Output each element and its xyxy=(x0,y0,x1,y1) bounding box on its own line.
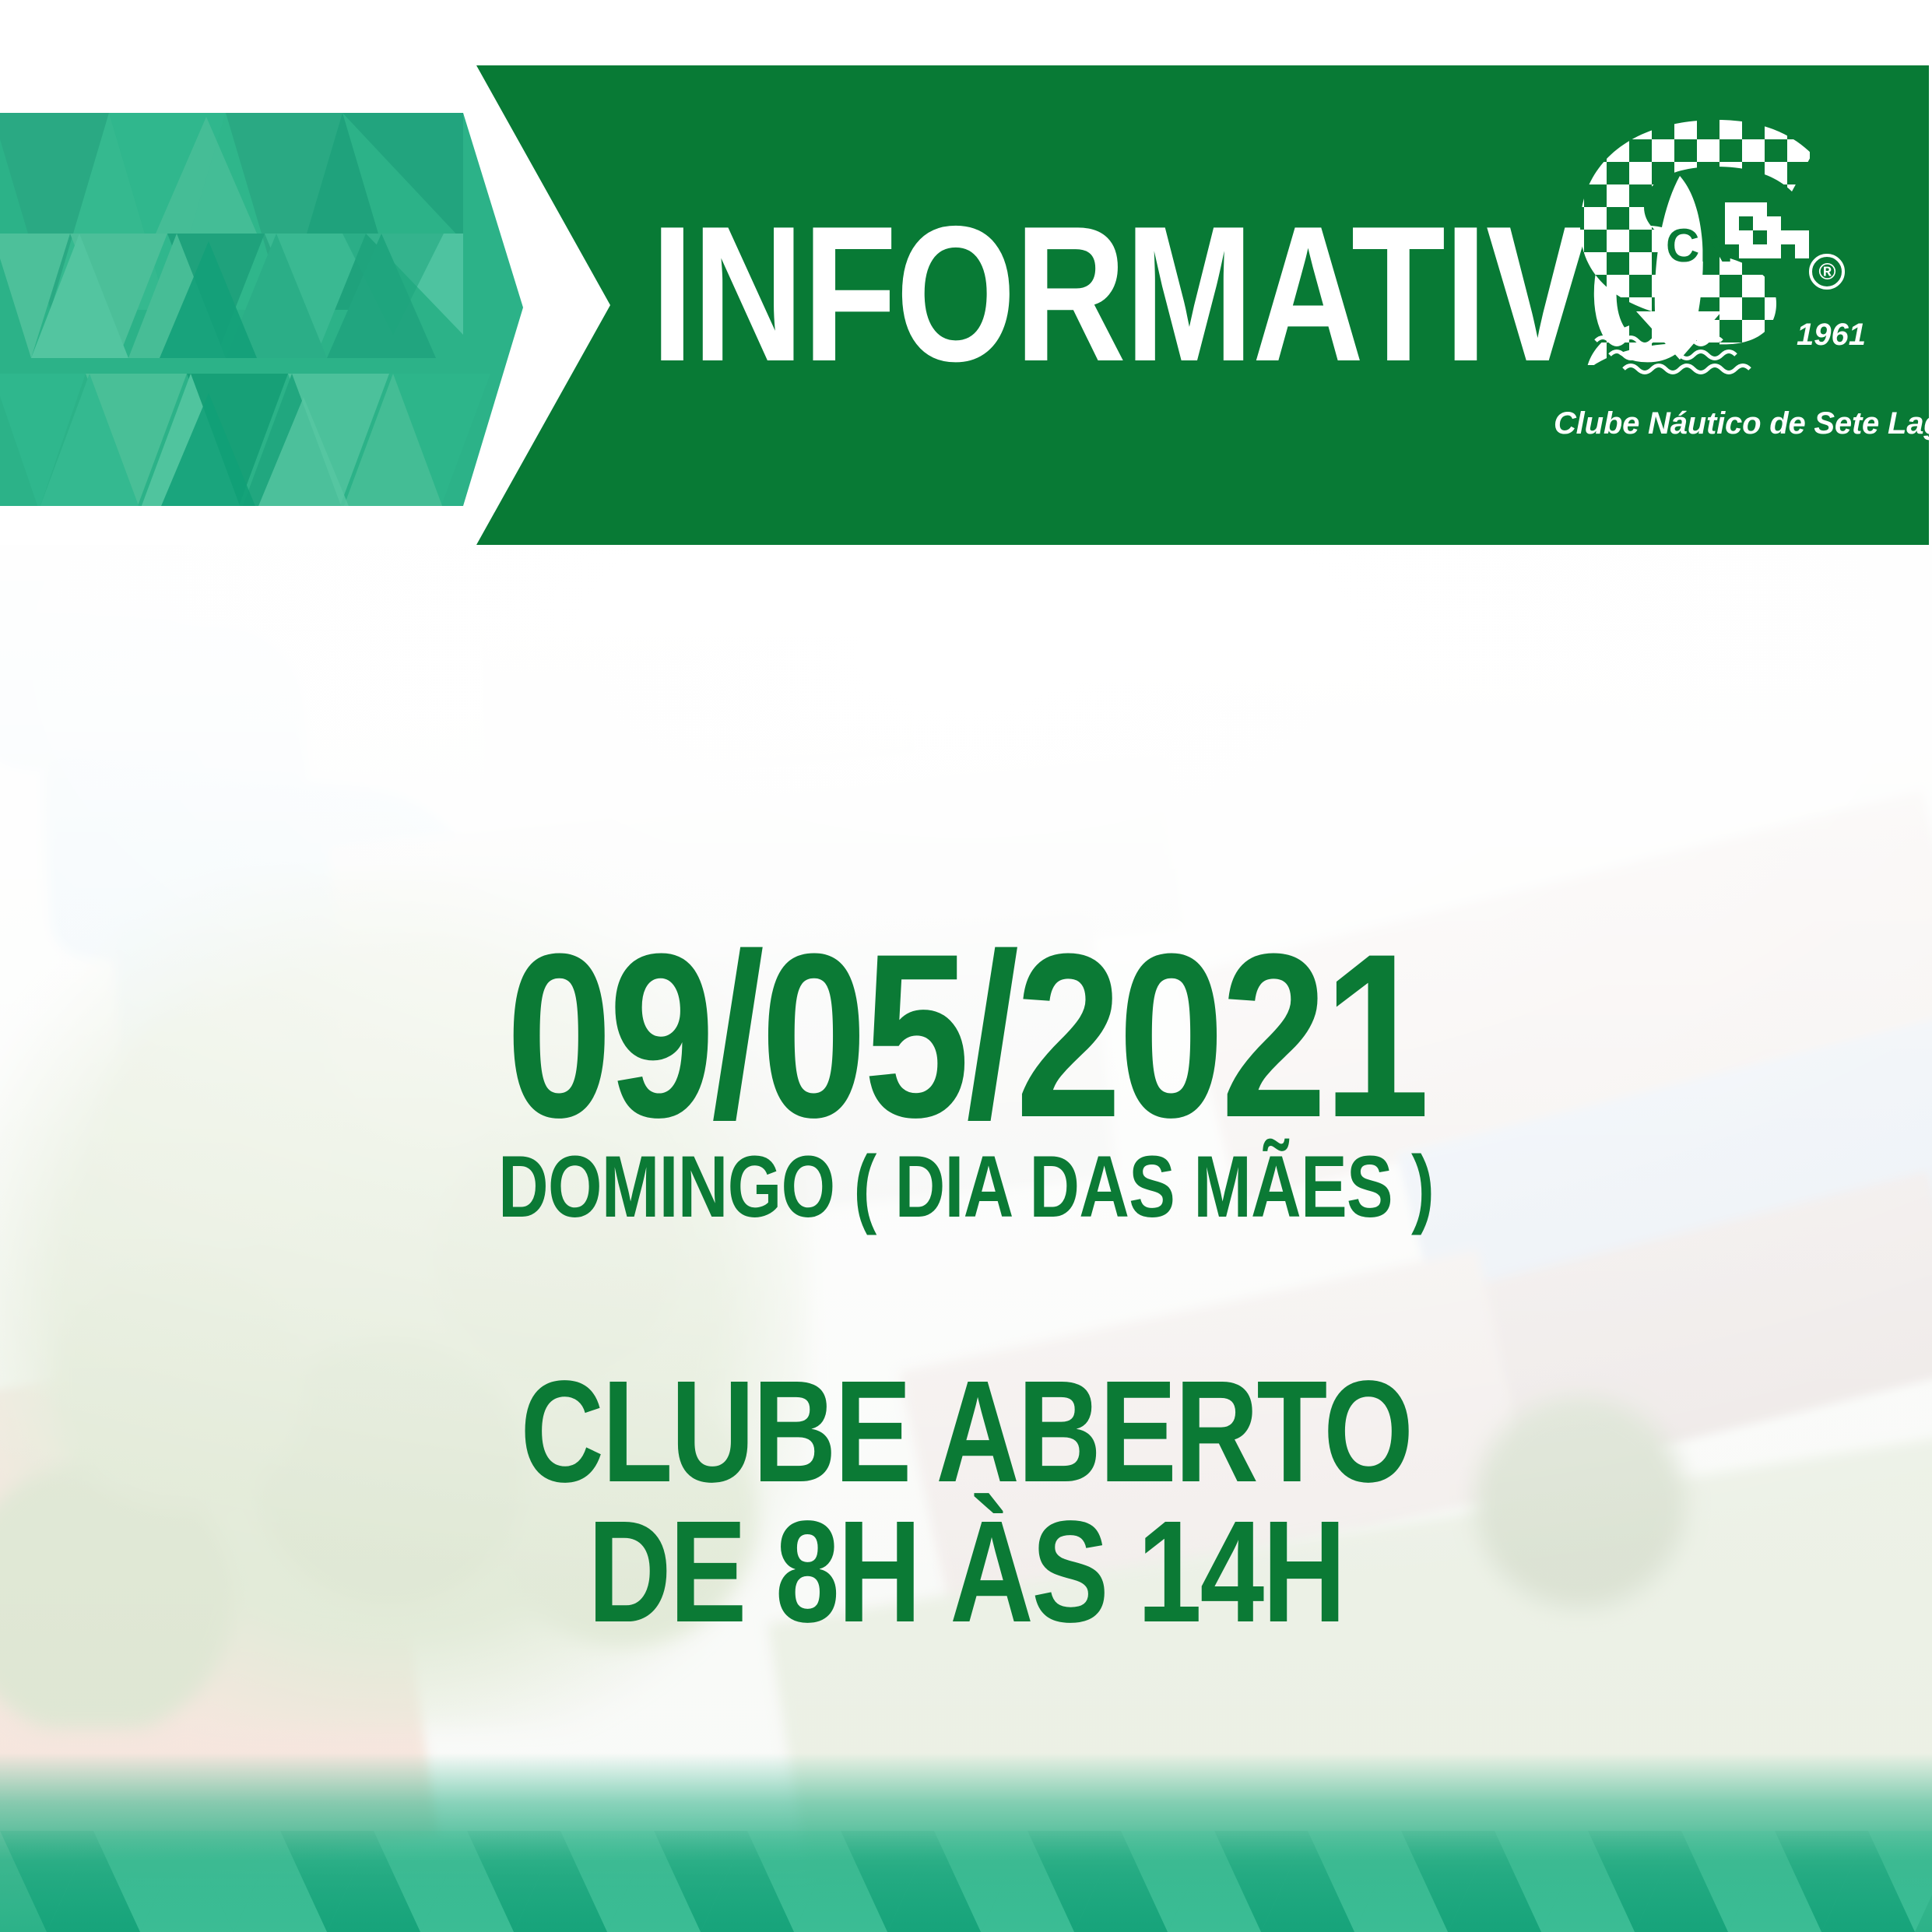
header-banner: INFORMATIVO xyxy=(0,0,1932,592)
club-nautico-sailboat-logo: CN xyxy=(1561,117,1873,397)
club-logo: CN xyxy=(1554,117,1920,444)
logo-hull xyxy=(1636,311,1722,360)
logo-sail xyxy=(1655,176,1703,311)
message-line-2: DE 8H ÀS 14H xyxy=(193,1502,1739,1642)
event-date: 09/05/2021 xyxy=(174,934,1758,1136)
logo-tagline: Clube Náutico de Sete Lagoas xyxy=(1554,406,1920,441)
message-line-1: CLUBE ABERTO xyxy=(193,1362,1739,1502)
banner-shape xyxy=(476,65,1929,545)
page-title: INFORMATIVO xyxy=(651,204,1386,383)
triangle-pattern-block xyxy=(0,109,537,510)
registered-trademark-icon: ® xyxy=(1809,254,1845,290)
logo-monogram: CN xyxy=(1666,220,1734,272)
logo-checkered-s xyxy=(1580,120,1812,371)
logo-waves xyxy=(1596,338,1750,373)
logo-flag-block xyxy=(1725,202,1809,258)
main-content: 09/05/2021 DOMINGO ( DIA DAS MÃES ) CLUB… xyxy=(0,545,1932,1932)
footer-triangle-band xyxy=(0,1753,1932,1932)
event-day-note: DOMINGO ( DIA DAS MÃES ) xyxy=(193,1144,1739,1230)
poster-canvas: INFORMATIVO xyxy=(0,0,1932,1932)
logo-founding-year: 1961 xyxy=(1797,318,1866,353)
